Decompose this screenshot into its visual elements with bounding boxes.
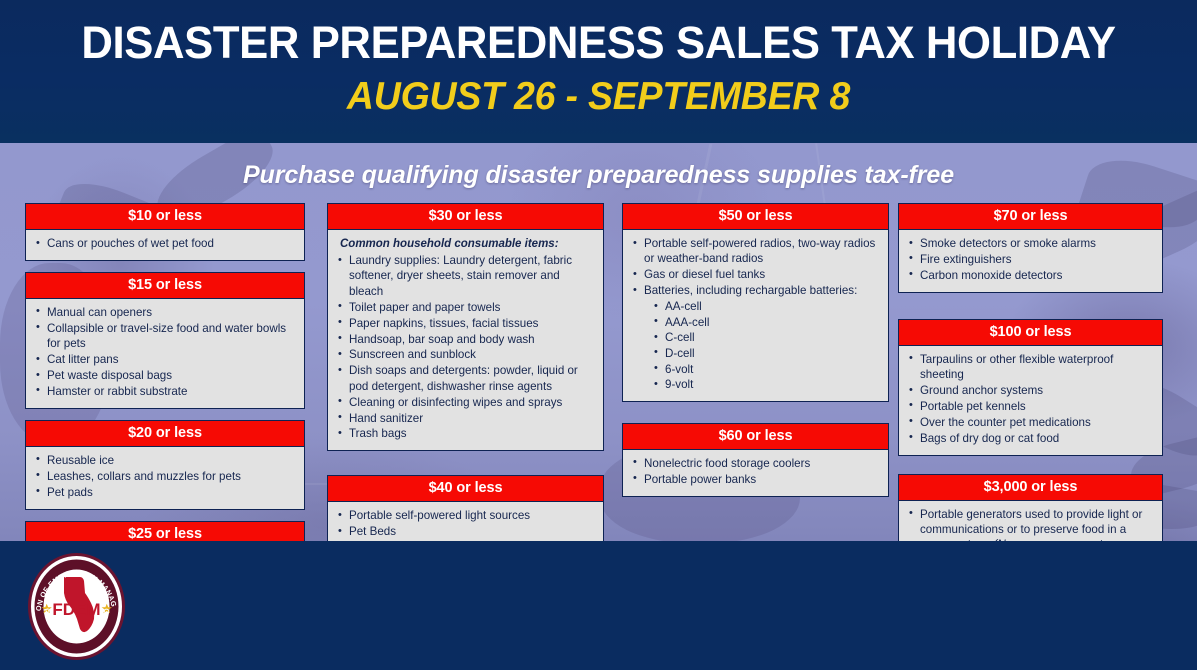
item-list: Portable self-powered light sourcesPet B… [334, 508, 595, 539]
list-item: Paper napkins, tissues, facial tissues [334, 316, 595, 331]
list-item: Fire extinguishers [905, 252, 1154, 267]
price-card-body: Tarpaulins or other flexible waterproof … [899, 346, 1162, 455]
item-list: Smoke detectors or smoke alarmsFire exti… [905, 236, 1154, 283]
price-column-4: $70 or lessSmoke detectors or smoke alar… [898, 203, 1163, 589]
list-item: Hand sanitizer [334, 411, 595, 426]
sub-list-item: 9-volt [651, 377, 880, 393]
price-column-3: $50 or lessPortable self-powered radios,… [622, 203, 889, 508]
item-list: Cans or pouches of wet pet food [32, 236, 296, 251]
date-range: AUGUST 26 - SEPTEMBER 8 [24, 74, 1173, 120]
list-item: Cleaning or disinfecting wipes and spray… [334, 395, 595, 410]
price-card-body: Smoke detectors or smoke alarmsFire exti… [899, 230, 1162, 292]
price-card: $20 or lessReusable iceLeashes, collars … [25, 420, 305, 510]
list-item: Pet Beds [334, 524, 595, 539]
price-card-title: $60 or less [623, 424, 888, 450]
list-item: Handsoap, bar soap and body wash [334, 332, 595, 347]
sub-list-item: AA-cell [651, 299, 880, 315]
list-item: Sunscreen and sunblock [334, 347, 595, 362]
price-card: $70 or lessSmoke detectors or smoke alar… [898, 203, 1163, 293]
price-card-body: Reusable iceLeashes, collars and muzzles… [26, 447, 304, 509]
card-intro-line: Common household consumable items: [340, 237, 595, 251]
item-list: Laundry supplies: Laundry detergent, fab… [334, 253, 595, 442]
header-band: DISASTER PREPAREDNESS SALES TAX HOLIDAY … [0, 0, 1197, 143]
price-card-title: $50 or less [623, 204, 888, 230]
item-list: Reusable iceLeashes, collars and muzzles… [32, 453, 296, 500]
footer-band [0, 541, 1197, 670]
list-item: Dish soaps and detergents: powder, liqui… [334, 363, 595, 394]
fdem-logo: FDEM DIVISION OF EMERGENCY MANAGEMENT OF… [28, 553, 125, 660]
price-card-title: $30 or less [328, 204, 603, 230]
list-item: Hamster or rabbit substrate [32, 384, 296, 399]
sub-item-list: AA-cellAAA-cellC-cellD-cell6-volt9-volt [651, 299, 880, 393]
price-card: $50 or lessPortable self-powered radios,… [622, 203, 889, 402]
price-card-title: $10 or less [26, 204, 304, 230]
list-item: Laundry supplies: Laundry detergent, fab… [334, 253, 595, 299]
subtitle: Purchase qualifying disaster preparednes… [0, 161, 1197, 190]
list-item: Cat litter pans [32, 352, 296, 367]
list-item: Portable self-powered light sources [334, 508, 595, 523]
list-item: Pet waste disposal bags [32, 368, 296, 383]
item-list: Portable self-powered radios, two-way ra… [629, 236, 880, 299]
list-item: Over the counter pet medications [905, 415, 1154, 430]
sub-list-item: C-cell [651, 330, 880, 346]
item-list: Tarpaulins or other flexible waterproof … [905, 352, 1154, 446]
price-card: $40 or lessPortable self-powered light s… [327, 475, 604, 549]
list-item: Tarpaulins or other flexible waterproof … [905, 352, 1154, 383]
list-item: Portable power banks [629, 472, 880, 487]
sub-list-item: 6-volt [651, 362, 880, 378]
price-card-title: $70 or less [899, 204, 1162, 230]
price-card-title: $20 or less [26, 421, 304, 447]
list-item: Toilet paper and paper towels [334, 300, 595, 315]
price-card-title: $15 or less [26, 273, 304, 299]
list-item: Ground anchor systems [905, 383, 1154, 398]
list-item: Portable self-powered radios, two-way ra… [629, 236, 880, 267]
list-item: Leashes, collars and muzzles for pets [32, 469, 296, 484]
price-card-body: Portable self-powered radios, two-way ra… [623, 230, 888, 401]
price-column-2: $30 or lessCommon household consumable i… [327, 203, 604, 560]
list-item: Bags of dry dog or cat food [905, 431, 1154, 446]
price-card: $30 or lessCommon household consumable i… [327, 203, 604, 451]
price-card: $60 or lessNonelectric food storage cool… [622, 423, 889, 497]
list-item: Smoke detectors or smoke alarms [905, 236, 1154, 251]
sub-list-item: D-cell [651, 346, 880, 362]
list-item: Carbon monoxide detectors [905, 268, 1154, 283]
list-item: Collapsible or travel-size food and wate… [32, 321, 296, 352]
price-column-1: $10 or lessCans or pouches of wet pet fo… [25, 203, 305, 589]
list-item: Reusable ice [32, 453, 296, 468]
price-card: $100 or lessTarpaulins or other flexible… [898, 319, 1163, 456]
list-item: Batteries, including rechargable batteri… [629, 283, 880, 298]
price-card-body: Manual can openersCollapsible or travel-… [26, 299, 304, 408]
price-card-title: $100 or less [899, 320, 1162, 346]
list-item: Cans or pouches of wet pet food [32, 236, 296, 251]
fdem-acronym: FDEM [52, 600, 100, 619]
price-card-title: $3,000 or less [899, 475, 1162, 501]
sub-list-item: AAA-cell [651, 315, 880, 331]
list-item: Pet pads [32, 485, 296, 500]
price-card-title: $40 or less [328, 476, 603, 502]
list-item: Manual can openers [32, 305, 296, 320]
price-card-body: Common household consumable items:Laundr… [328, 230, 603, 450]
list-item: Gas or diesel fuel tanks [629, 267, 880, 282]
list-item: Nonelectric food storage coolers [629, 456, 880, 471]
price-card-body: Cans or pouches of wet pet food [26, 230, 304, 260]
price-card: $10 or lessCans or pouches of wet pet fo… [25, 203, 305, 261]
list-item: Portable pet kennels [905, 399, 1154, 414]
list-item: Trash bags [334, 426, 595, 441]
item-list: Manual can openersCollapsible or travel-… [32, 305, 296, 399]
item-list: Nonelectric food storage coolersPortable… [629, 456, 880, 487]
price-card-body: Nonelectric food storage coolersPortable… [623, 450, 888, 496]
price-card: $15 or lessManual can openersCollapsible… [25, 272, 305, 409]
page-title: DISASTER PREPAREDNESS SALES TAX HOLIDAY [18, 16, 1179, 70]
